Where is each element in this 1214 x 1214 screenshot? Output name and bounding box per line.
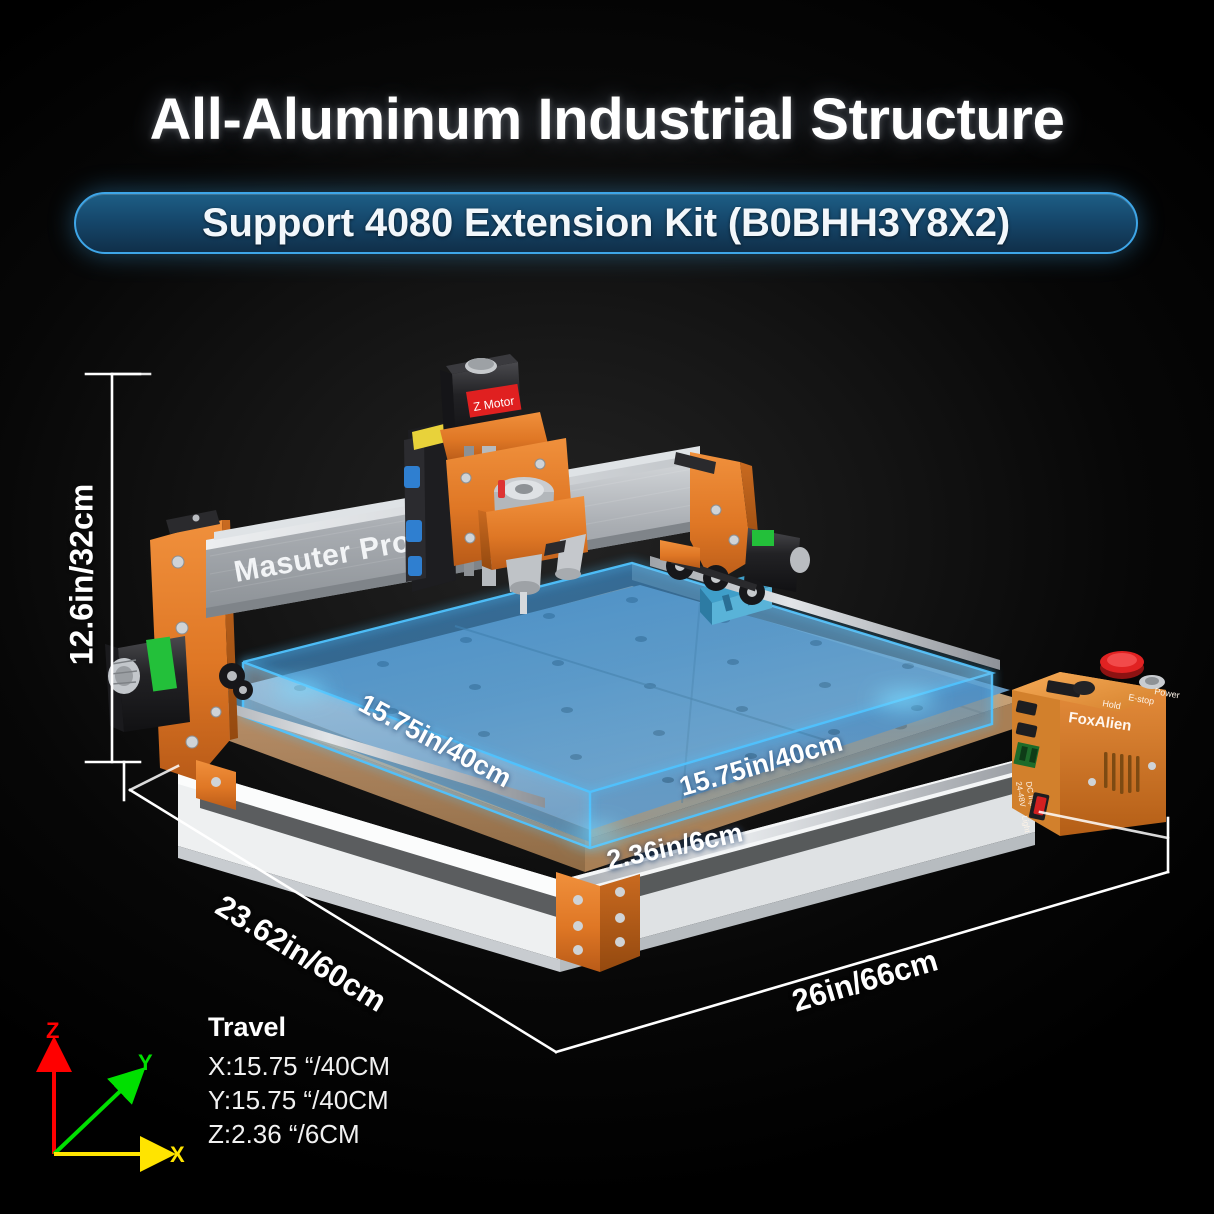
- axis-z-label: Z: [46, 1018, 59, 1043]
- travel-row-x: X:15.75 “/40CM: [208, 1050, 390, 1084]
- extension-kit-badge-label: Support 4080 Extension Kit (B0BHH3Y8X2): [202, 201, 1010, 246]
- corner-bracket-front: [556, 872, 640, 972]
- controller-box: Hold E-stop Power FoxAlien 24-: [1012, 651, 1181, 836]
- emergency-stop-button[interactable]: [1100, 651, 1144, 679]
- axis-gizmo: Z Y X: [24, 1008, 194, 1184]
- travel-row-z: Z:2.36 “/6CM: [208, 1118, 390, 1152]
- travel-row-y: Y:15.75 “/40CM: [208, 1084, 390, 1118]
- axis-x-label: X: [170, 1142, 185, 1167]
- travel-spec-block: Travel X:15.75 “/40CM Y:15.75 “/40CM Z:2…: [208, 1012, 390, 1151]
- axis-y-label: Y: [138, 1050, 153, 1075]
- hold-button: [1073, 681, 1095, 695]
- travel-heading: Travel: [208, 1012, 390, 1043]
- dimension-label-height: 12.6in/32cm: [64, 465, 101, 685]
- x-stepper-motor-left: [105, 636, 190, 732]
- axis-y-arrow: [54, 1078, 134, 1154]
- dc-input-terminal: [1013, 742, 1039, 768]
- page-title: All-Aluminum Industrial Structure: [0, 86, 1214, 153]
- spindle-assembly: Z Motor: [404, 354, 588, 614]
- infographic-canvas: Masuter Pro: [0, 0, 1214, 1214]
- extension-kit-badge: Support 4080 Extension Kit (B0BHH3Y8X2): [74, 192, 1138, 254]
